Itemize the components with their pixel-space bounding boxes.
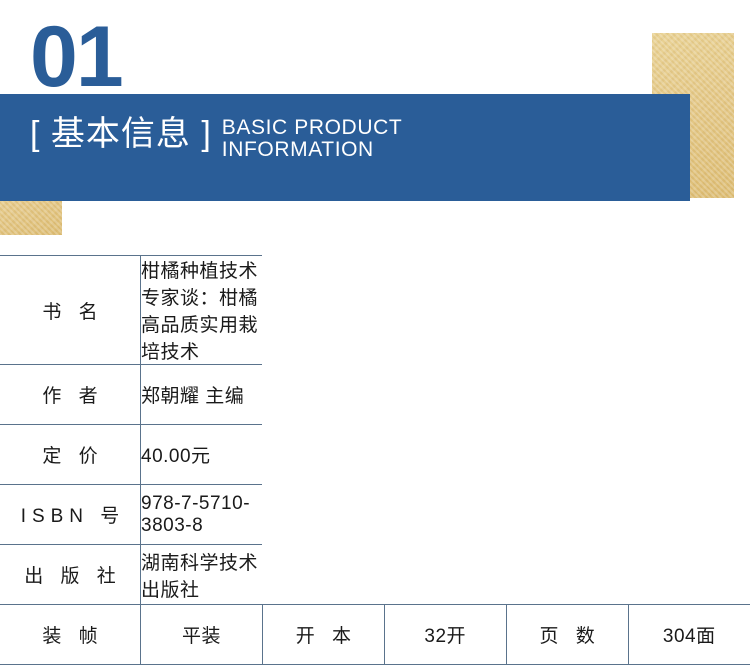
row-value-format: 32开 bbox=[384, 605, 506, 665]
row-label-format: 开 本 bbox=[262, 605, 384, 665]
row-value-isbn: 978-7-5710-3803-8 bbox=[141, 485, 263, 545]
row-label-pages: 页 数 bbox=[506, 605, 628, 665]
row-label-book-name: 书 名 bbox=[0, 256, 141, 365]
row-label-isbn: ISBN 号 bbox=[0, 485, 141, 545]
table-row: 出 版 社 湖南科学技术出版社 bbox=[0, 545, 750, 605]
table-row: 书 名 柑橘种植技术专家谈：柑橘高品质实用栽培技术 bbox=[0, 256, 750, 365]
row-value-pages: 304面 bbox=[628, 605, 750, 665]
banner-title-group: [ 基本信息 ] BASIC PRODUCT INFORMATION bbox=[30, 112, 402, 161]
row-value-book-name: 柑橘种植技术专家谈：柑橘高品质实用栽培技术 bbox=[141, 256, 263, 365]
banner-title-chinese: [ 基本信息 ] bbox=[30, 112, 212, 156]
table-row-specs: 装 帧 平装 开 本 32开 页 数 304面 bbox=[0, 605, 750, 665]
table-row: 作 者 郑朝耀 主编 bbox=[0, 365, 750, 425]
row-label-author: 作 者 bbox=[0, 365, 141, 425]
table-row: 定 价 40.00元 bbox=[0, 425, 750, 485]
product-info-page: 01 [ 基本信息 ] BASIC PRODUCT INFORMATION 书 … bbox=[0, 0, 750, 657]
table-row: ISBN 号 978-7-5710-3803-8 bbox=[0, 485, 750, 545]
section-banner: 01 [ 基本信息 ] BASIC PRODUCT INFORMATION bbox=[0, 0, 750, 250]
banner-title-english: BASIC PRODUCT INFORMATION bbox=[222, 117, 403, 161]
row-label-publisher: 出 版 社 bbox=[0, 545, 141, 605]
product-info-table: 书 名 柑橘种植技术专家谈：柑橘高品质实用栽培技术 作 者 郑朝耀 主编 定 价… bbox=[0, 255, 750, 665]
row-value-price: 40.00元 bbox=[141, 425, 263, 485]
row-label-binding: 装 帧 bbox=[0, 605, 141, 665]
row-label-price: 定 价 bbox=[0, 425, 141, 485]
row-value-author: 郑朝耀 主编 bbox=[141, 365, 263, 425]
section-number: 01 bbox=[30, 14, 122, 100]
row-value-binding: 平装 bbox=[141, 605, 263, 665]
row-value-publisher: 湖南科学技术出版社 bbox=[141, 545, 263, 605]
